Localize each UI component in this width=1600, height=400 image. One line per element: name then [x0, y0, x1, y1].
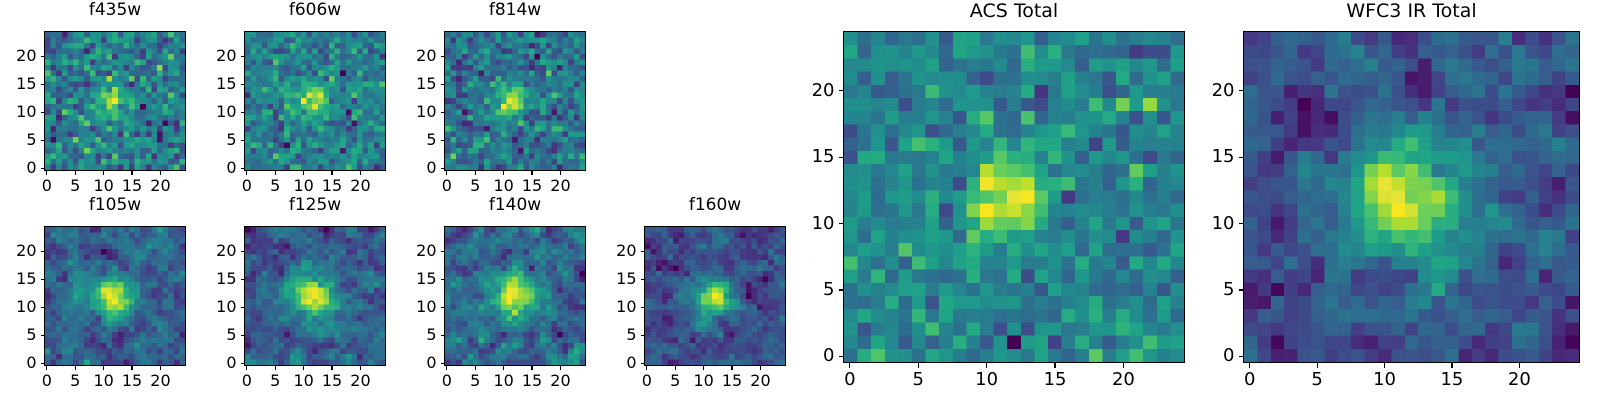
xtick-f125w-0: [246, 366, 247, 370]
xticklabel-f140w-0: 0: [442, 373, 452, 389]
heatmap-image-f435w: [45, 32, 185, 170]
ytick-acs_total-0: [839, 356, 844, 357]
xtick-f160w-20: [760, 366, 761, 370]
heatmap-image-f606w: [245, 32, 385, 170]
ytick-f105w-20: [41, 251, 45, 252]
xticklabel-f435w-10: 10: [93, 178, 113, 194]
xtick-wfc3_ir_total-0: [1249, 363, 1250, 368]
xtick-f435w-10: [103, 171, 104, 175]
xtick-f435w-20: [160, 171, 161, 175]
yticklabel-f140w-5: 5: [400, 327, 437, 343]
yticklabel-f606w-0: 0: [200, 160, 237, 176]
xticklabel-f814w-10: 10: [493, 178, 513, 194]
xtick-f160w-5: [675, 366, 676, 370]
xticklabel-f814w-5: 5: [470, 178, 480, 194]
xticklabel-f435w-15: 15: [122, 178, 142, 194]
ytick-f125w-15: [241, 279, 245, 280]
xtick-f814w-0: [446, 171, 447, 175]
xtick-f140w-15: [531, 366, 532, 370]
xtick-acs_total-15: [1054, 363, 1055, 368]
yticklabel-f105w-20: 20: [0, 243, 37, 259]
ytick-f140w-20: [441, 251, 445, 252]
xtick-f606w-10: [303, 171, 304, 175]
yticklabel-f435w-10: 10: [0, 104, 37, 120]
yticklabel-acs_total-0: 0: [795, 347, 835, 365]
image-axes-f606w: [244, 31, 386, 171]
ytick-f125w-0: [241, 363, 245, 364]
ytick-f105w-5: [41, 335, 45, 336]
ytick-f160w-0: [641, 363, 645, 364]
xtick-f814w-10: [503, 171, 504, 175]
yticklabel-f606w-15: 15: [200, 76, 237, 92]
xtick-f105w-15: [131, 366, 132, 370]
image-axes-f160w: [644, 226, 786, 366]
panel-f814w: f814w0510152005101520: [400, 0, 594, 200]
image-axes-acs_total: [843, 31, 1185, 363]
image-axes-f105w: [44, 226, 186, 366]
xticklabel-f140w-15: 15: [522, 373, 542, 389]
panel-title-f160w: f160w: [644, 197, 786, 214]
yticklabel-f606w-20: 20: [200, 48, 237, 64]
xticklabel-f105w-0: 0: [42, 373, 52, 389]
xtick-f125w-20: [360, 366, 361, 370]
ytick-wfc3_ir_total-20: [1239, 90, 1244, 91]
xticklabel-f140w-5: 5: [470, 373, 480, 389]
yticklabel-f140w-10: 10: [400, 299, 437, 315]
ytick-f435w-0: [41, 168, 45, 169]
xtick-f105w-20: [160, 366, 161, 370]
xticklabel-acs_total-5: 5: [913, 371, 924, 389]
panel-wfc3_ir_total: WFC3 IR Total0510152005101520: [1195, 0, 1588, 400]
ytick-f435w-20: [41, 56, 45, 57]
panel-f606w: f606w0510152005101520: [200, 0, 394, 200]
yticklabel-f125w-15: 15: [200, 271, 237, 287]
ytick-f140w-10: [441, 307, 445, 308]
ytick-f814w-5: [441, 140, 445, 141]
xticklabel-f160w-10: 10: [693, 373, 713, 389]
panel-title-acs_total: ACS Total: [843, 2, 1185, 21]
yticklabel-f125w-0: 0: [200, 355, 237, 371]
panel-f125w: f125w0510152005101520: [200, 195, 394, 395]
panel-title-f814w: f814w: [444, 2, 586, 19]
xticklabel-f160w-15: 15: [722, 373, 742, 389]
image-axes-f814w: [444, 31, 586, 171]
panel-title-wfc3_ir_total: WFC3 IR Total: [1243, 2, 1580, 21]
xticklabel-f606w-15: 15: [322, 178, 342, 194]
xtick-f105w-5: [75, 366, 76, 370]
yticklabel-f105w-5: 5: [0, 327, 37, 343]
ytick-f606w-0: [241, 168, 245, 169]
ytick-f125w-20: [241, 251, 245, 252]
xticklabel-f125w-20: 20: [350, 373, 370, 389]
yticklabel-f160w-0: 0: [600, 355, 637, 371]
xtick-f606w-20: [360, 171, 361, 175]
ytick-f606w-20: [241, 56, 245, 57]
xtick-f160w-0: [646, 366, 647, 370]
xticklabel-acs_total-20: 20: [1112, 371, 1135, 389]
yticklabel-acs_total-20: 20: [795, 82, 835, 100]
ytick-wfc3_ir_total-5: [1239, 289, 1244, 290]
panel-title-f125w: f125w: [244, 197, 386, 214]
xtick-f105w-10: [103, 366, 104, 370]
xtick-f140w-10: [503, 366, 504, 370]
xticklabel-wfc3_ir_total-10: 10: [1373, 371, 1396, 389]
xticklabel-f105w-15: 15: [122, 373, 142, 389]
ytick-f125w-10: [241, 307, 245, 308]
ytick-f125w-5: [241, 335, 245, 336]
yticklabel-wfc3_ir_total-10: 10: [1195, 215, 1235, 233]
xtick-f814w-5: [475, 171, 476, 175]
heatmap-image-f160w: [645, 227, 785, 365]
xticklabel-acs_total-0: 0: [844, 371, 855, 389]
yticklabel-wfc3_ir_total-5: 5: [1195, 281, 1235, 299]
xtick-acs_total-10: [986, 363, 987, 368]
ytick-f435w-5: [41, 140, 45, 141]
xtick-f435w-0: [46, 171, 47, 175]
yticklabel-f435w-0: 0: [0, 160, 37, 176]
panel-title-f140w: f140w: [444, 197, 586, 214]
xtick-f435w-15: [131, 171, 132, 175]
xtick-wfc3_ir_total-20: [1519, 363, 1520, 368]
xticklabel-wfc3_ir_total-5: 5: [1311, 371, 1322, 389]
xticklabel-f105w-10: 10: [93, 373, 113, 389]
xtick-f125w-15: [331, 366, 332, 370]
ytick-f606w-5: [241, 140, 245, 141]
xtick-f140w-5: [475, 366, 476, 370]
panel-acs_total: ACS Total0510152005101520: [795, 0, 1193, 400]
xticklabel-f606w-20: 20: [350, 178, 370, 194]
yticklabel-f814w-5: 5: [400, 132, 437, 148]
yticklabel-f105w-0: 0: [0, 355, 37, 371]
panel-title-f435w: f435w: [44, 2, 186, 19]
xticklabel-f160w-0: 0: [642, 373, 652, 389]
image-axes-f140w: [444, 226, 586, 366]
image-axes-f435w: [44, 31, 186, 171]
yticklabel-f160w-10: 10: [600, 299, 637, 315]
ytick-f814w-15: [441, 84, 445, 85]
xtick-acs_total-0: [849, 363, 850, 368]
heatmap-image-f105w: [45, 227, 185, 365]
xticklabel-f606w-5: 5: [270, 178, 280, 194]
yticklabel-f160w-15: 15: [600, 271, 637, 287]
xticklabel-wfc3_ir_total-20: 20: [1508, 371, 1531, 389]
xticklabel-f125w-0: 0: [242, 373, 252, 389]
heatmap-image-acs_total: [844, 32, 1184, 362]
xtick-acs_total-5: [918, 363, 919, 368]
xtick-f140w-0: [446, 366, 447, 370]
ytick-f160w-5: [641, 335, 645, 336]
ytick-f435w-15: [41, 84, 45, 85]
xticklabel-f125w-15: 15: [322, 373, 342, 389]
yticklabel-acs_total-15: 15: [795, 148, 835, 166]
ytick-f606w-10: [241, 112, 245, 113]
ytick-wfc3_ir_total-0: [1239, 356, 1244, 357]
yticklabel-f140w-0: 0: [400, 355, 437, 371]
ytick-f140w-5: [441, 335, 445, 336]
xtick-f140w-20: [560, 366, 561, 370]
xticklabel-f160w-5: 5: [670, 373, 680, 389]
xtick-f125w-10: [303, 366, 304, 370]
panel-f160w: f160w0510152005101520: [600, 195, 794, 395]
panel-f105w: f105w0510152005101520: [0, 195, 194, 395]
yticklabel-f160w-5: 5: [600, 327, 637, 343]
xtick-f606w-15: [331, 171, 332, 175]
panel-title-f606w: f606w: [244, 2, 386, 19]
xticklabel-f435w-20: 20: [150, 178, 170, 194]
xticklabel-f160w-20: 20: [750, 373, 770, 389]
xtick-wfc3_ir_total-15: [1451, 363, 1452, 368]
ytick-f814w-0: [441, 168, 445, 169]
yticklabel-f140w-15: 15: [400, 271, 437, 287]
ytick-f814w-20: [441, 56, 445, 57]
ytick-wfc3_ir_total-10: [1239, 223, 1244, 224]
ytick-f105w-15: [41, 279, 45, 280]
xtick-f125w-5: [275, 366, 276, 370]
yticklabel-f105w-10: 10: [0, 299, 37, 315]
yticklabel-f814w-20: 20: [400, 48, 437, 64]
yticklabel-f814w-0: 0: [400, 160, 437, 176]
xticklabel-wfc3_ir_total-15: 15: [1440, 371, 1463, 389]
xtick-wfc3_ir_total-10: [1384, 363, 1385, 368]
ytick-f105w-10: [41, 307, 45, 308]
xticklabel-f814w-0: 0: [442, 178, 452, 194]
ytick-f160w-15: [641, 279, 645, 280]
xtick-f160w-15: [731, 366, 732, 370]
yticklabel-acs_total-10: 10: [795, 215, 835, 233]
xtick-f814w-15: [531, 171, 532, 175]
ytick-acs_total-10: [839, 223, 844, 224]
xtick-f606w-0: [246, 171, 247, 175]
ytick-f140w-0: [441, 363, 445, 364]
xticklabel-acs_total-15: 15: [1044, 371, 1067, 389]
yticklabel-acs_total-5: 5: [795, 281, 835, 299]
xtick-f160w-10: [703, 366, 704, 370]
yticklabel-f814w-15: 15: [400, 76, 437, 92]
yticklabel-f140w-20: 20: [400, 243, 437, 259]
yticklabel-f125w-20: 20: [200, 243, 237, 259]
xticklabel-f105w-5: 5: [70, 373, 80, 389]
yticklabel-f435w-15: 15: [0, 76, 37, 92]
figure-canvas: f435w0510152005101520f606w05101520051015…: [0, 0, 1600, 400]
ytick-wfc3_ir_total-15: [1239, 157, 1244, 158]
xticklabel-acs_total-10: 10: [975, 371, 998, 389]
ytick-acs_total-20: [839, 90, 844, 91]
image-axes-wfc3_ir_total: [1243, 31, 1580, 363]
ytick-f105w-0: [41, 363, 45, 364]
xticklabel-wfc3_ir_total-0: 0: [1244, 371, 1255, 389]
panel-title-f105w: f105w: [44, 197, 186, 214]
xticklabel-f105w-20: 20: [150, 373, 170, 389]
heatmap-image-f125w: [245, 227, 385, 365]
xticklabel-f435w-0: 0: [42, 178, 52, 194]
yticklabel-f125w-5: 5: [200, 327, 237, 343]
ytick-f160w-20: [641, 251, 645, 252]
xticklabel-f140w-20: 20: [550, 373, 570, 389]
xtick-f814w-20: [560, 171, 561, 175]
ytick-f606w-15: [241, 84, 245, 85]
yticklabel-f125w-10: 10: [200, 299, 237, 315]
heatmap-image-f140w: [445, 227, 585, 365]
xtick-wfc3_ir_total-5: [1317, 363, 1318, 368]
yticklabel-f105w-15: 15: [0, 271, 37, 287]
ytick-f160w-10: [641, 307, 645, 308]
yticklabel-wfc3_ir_total-0: 0: [1195, 347, 1235, 365]
yticklabel-wfc3_ir_total-20: 20: [1195, 82, 1235, 100]
xticklabel-f140w-10: 10: [493, 373, 513, 389]
ytick-acs_total-15: [839, 157, 844, 158]
image-axes-f125w: [244, 226, 386, 366]
xticklabel-f435w-5: 5: [70, 178, 80, 194]
panel-f140w: f140w0510152005101520: [400, 195, 594, 395]
yticklabel-f435w-20: 20: [0, 48, 37, 64]
xticklabel-f125w-10: 10: [293, 373, 313, 389]
xticklabel-f814w-15: 15: [522, 178, 542, 194]
xtick-f105w-0: [46, 366, 47, 370]
xticklabel-f606w-10: 10: [293, 178, 313, 194]
xticklabel-f814w-20: 20: [550, 178, 570, 194]
yticklabel-f606w-5: 5: [200, 132, 237, 148]
heatmap-image-wfc3_ir_total: [1244, 32, 1579, 362]
yticklabel-f814w-10: 10: [400, 104, 437, 120]
yticklabel-f435w-5: 5: [0, 132, 37, 148]
xticklabel-f606w-0: 0: [242, 178, 252, 194]
ytick-acs_total-5: [839, 289, 844, 290]
ytick-f814w-10: [441, 112, 445, 113]
xtick-acs_total-20: [1123, 363, 1124, 368]
yticklabel-f606w-10: 10: [200, 104, 237, 120]
ytick-f140w-15: [441, 279, 445, 280]
yticklabel-wfc3_ir_total-15: 15: [1195, 148, 1235, 166]
yticklabel-f160w-20: 20: [600, 243, 637, 259]
ytick-f435w-10: [41, 112, 45, 113]
xtick-f606w-5: [275, 171, 276, 175]
xtick-f435w-5: [75, 171, 76, 175]
xticklabel-f125w-5: 5: [270, 373, 280, 389]
heatmap-image-f814w: [445, 32, 585, 170]
panel-f435w: f435w0510152005101520: [0, 0, 194, 200]
